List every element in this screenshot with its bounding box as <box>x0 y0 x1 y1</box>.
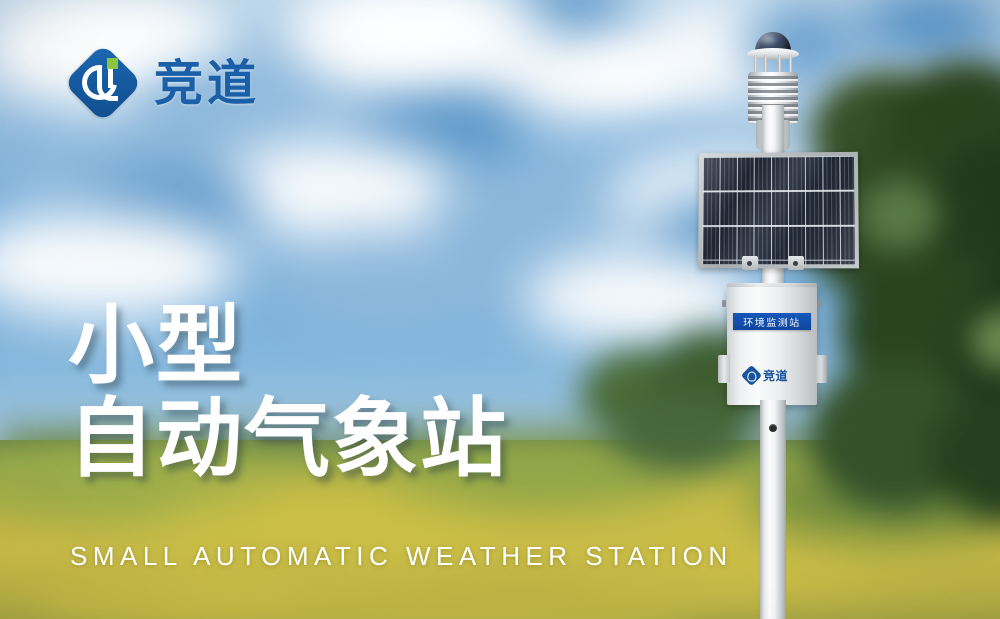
jingdao-diamond-logo-icon <box>66 46 140 120</box>
control-box-hinge-left <box>718 355 730 383</box>
control-box-screw-left <box>722 300 726 307</box>
panel-bracket-left <box>742 256 758 270</box>
brand-name: 竞道 <box>154 59 260 108</box>
mast-bolt-icon <box>769 424 777 432</box>
headline-block: 小型 自动气象站 <box>68 300 508 486</box>
jingdao-diamond-logo-icon <box>741 365 762 386</box>
control-box <box>727 287 817 405</box>
brand-logo[interactable]: 竞道 <box>66 46 260 120</box>
panel-bracket-right <box>788 256 804 270</box>
control-box-brand-text: 竞道 <box>763 367 788 384</box>
control-box-brand-logo: 竞道 <box>744 367 788 384</box>
control-box-screw-right <box>818 300 822 307</box>
promo-banner: 环境监测站 竞道 竞道 小型 自动气象站 SMALL AUTOMATIC WEA… <box>0 0 1000 619</box>
headline-subtitle: SMALL AUTOMATIC WEATHER STATION <box>70 541 733 572</box>
control-box-label-text: 环境监测站 <box>743 314 801 328</box>
green-square-accent-icon <box>107 58 118 69</box>
lower-mast <box>760 400 786 619</box>
headline-line-1: 小型 <box>68 300 508 393</box>
headline-line-2: 自动气象站 <box>68 393 508 486</box>
solar-panel <box>698 152 859 269</box>
control-box-hinge-right <box>815 355 827 383</box>
control-box-label-band: 环境监测站 <box>733 313 811 330</box>
